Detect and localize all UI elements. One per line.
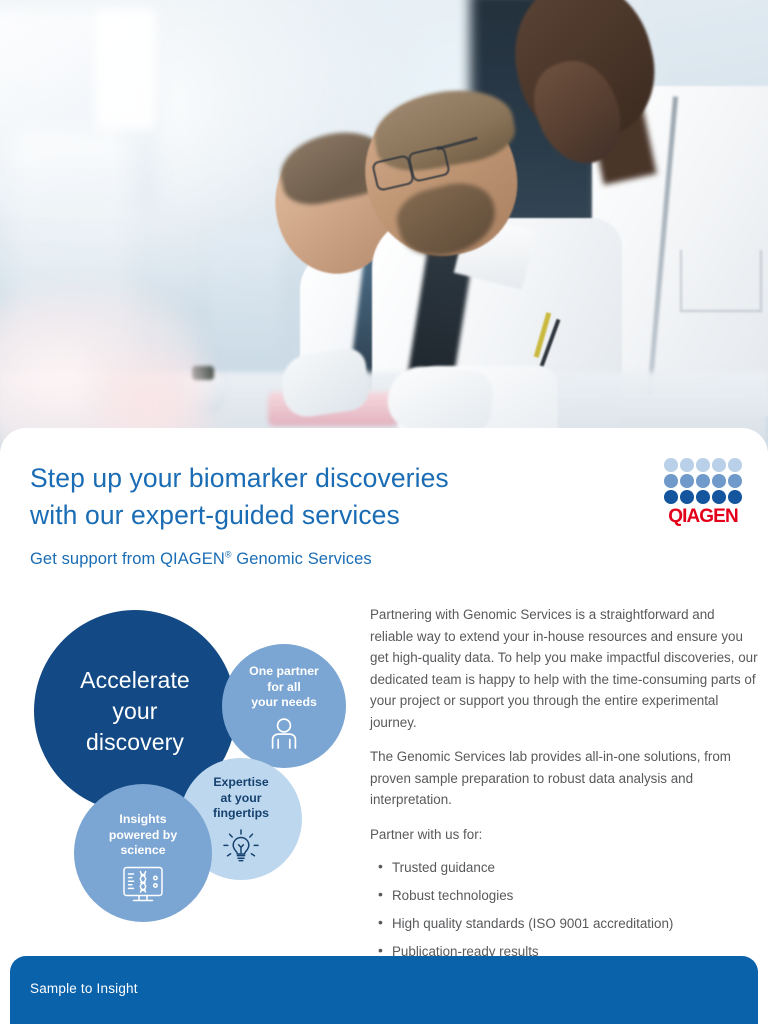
page-root: Step up your biomarker discoveries with … — [0, 0, 768, 1024]
circles-infographic: Accelerate your discovery One partner fo… — [28, 606, 340, 926]
footer-tagline: Sample to Insight — [30, 981, 138, 996]
logo-dot-row-3 — [664, 490, 742, 504]
logo-dot — [728, 490, 742, 504]
subtitle-text-after: Genomic Services — [232, 550, 372, 568]
circle-insights-text: Insights powered by science — [109, 812, 177, 859]
body-text-column: Partnering with Genomic Services is a st… — [370, 604, 758, 970]
logo-dot — [712, 474, 726, 488]
content-card: Step up your biomarker discoveries with … — [0, 428, 768, 948]
logo-dot-row-1 — [664, 458, 742, 472]
body-paragraph-1: Partnering with Genomic Services is a st… — [370, 604, 758, 733]
circle-one-partner: One partner for all your needs — [222, 644, 346, 768]
list-item: High quality standards (ISO 9001 accredi… — [392, 914, 758, 933]
circle-accelerate-line-1: Accelerate — [80, 667, 190, 693]
dna-monitor-icon — [120, 865, 166, 910]
logo-dot — [680, 458, 694, 472]
logo-dot-row-2 — [664, 474, 742, 488]
registered-trademark-symbol: ® — [225, 550, 232, 560]
circle-accelerate-line-3: discovery — [86, 729, 184, 755]
page-title: Step up your biomarker discoveries with … — [30, 460, 650, 534]
list-item: Robust technologies — [392, 886, 758, 905]
footer-bar: Sample to Insight — [10, 956, 758, 1024]
hero-stool — [210, 230, 280, 380]
list-item: Trusted guidance — [392, 858, 758, 877]
circle-one-partner-line-2: for all — [267, 680, 300, 694]
hero-image — [0, 0, 768, 452]
hero-person-2-glove — [386, 364, 494, 433]
circle-expertise-text: Expertise at your fingertips — [213, 775, 269, 822]
circle-insights-line-3: science — [120, 843, 165, 857]
logo-dot — [712, 458, 726, 472]
logo-dot — [696, 490, 710, 504]
logo-dot — [696, 474, 710, 488]
circle-expertise-line-3: fingertips — [213, 806, 269, 820]
headline-line-2: with our expert-guided services — [30, 497, 650, 534]
logo-dot — [712, 490, 726, 504]
logo-dot — [664, 490, 678, 504]
circle-insights-line-2: powered by — [109, 828, 177, 842]
circle-insights-line-1: Insights — [119, 812, 166, 826]
hero-lab-equipment-3 — [95, 10, 155, 130]
qiagen-wordmark: QIAGEN — [664, 506, 742, 527]
headline-line-1: Step up your biomarker discoveries — [30, 463, 449, 493]
circle-one-partner-line-3: your needs — [251, 695, 317, 709]
logo-dot — [728, 458, 742, 472]
logo-dot — [664, 458, 678, 472]
person-icon — [267, 717, 301, 754]
hero-person-3-pocket — [680, 250, 762, 312]
logo-dot — [664, 474, 678, 488]
circle-one-partner-line-1: One partner — [249, 664, 319, 678]
qiagen-logo: QIAGEN — [664, 458, 746, 527]
page-subtitle: Get support from QIAGEN® Genomic Service… — [30, 550, 372, 569]
circle-accelerate-text: Accelerate your discovery — [80, 665, 190, 758]
circle-accelerate-line-2: your — [112, 698, 157, 724]
body-paragraph-2: The Genomic Services lab provides all-in… — [370, 746, 758, 811]
circle-one-partner-text: One partner for all your needs — [249, 664, 319, 711]
circle-insights: Insights powered by science — [74, 784, 212, 922]
circle-expertise-line-1: Expertise — [213, 775, 268, 789]
benefits-list: Trusted guidance Robust technologies Hig… — [370, 858, 758, 961]
logo-dot — [696, 458, 710, 472]
lightbulb-icon — [221, 828, 261, 871]
subtitle-text-before: Get support from QIAGEN — [30, 550, 225, 568]
logo-dot — [680, 474, 694, 488]
logo-dot — [728, 474, 742, 488]
bullet-list-label: Partner with us for: — [370, 824, 758, 846]
circle-expertise-line-2: at your — [221, 791, 262, 805]
logo-dot — [680, 490, 694, 504]
